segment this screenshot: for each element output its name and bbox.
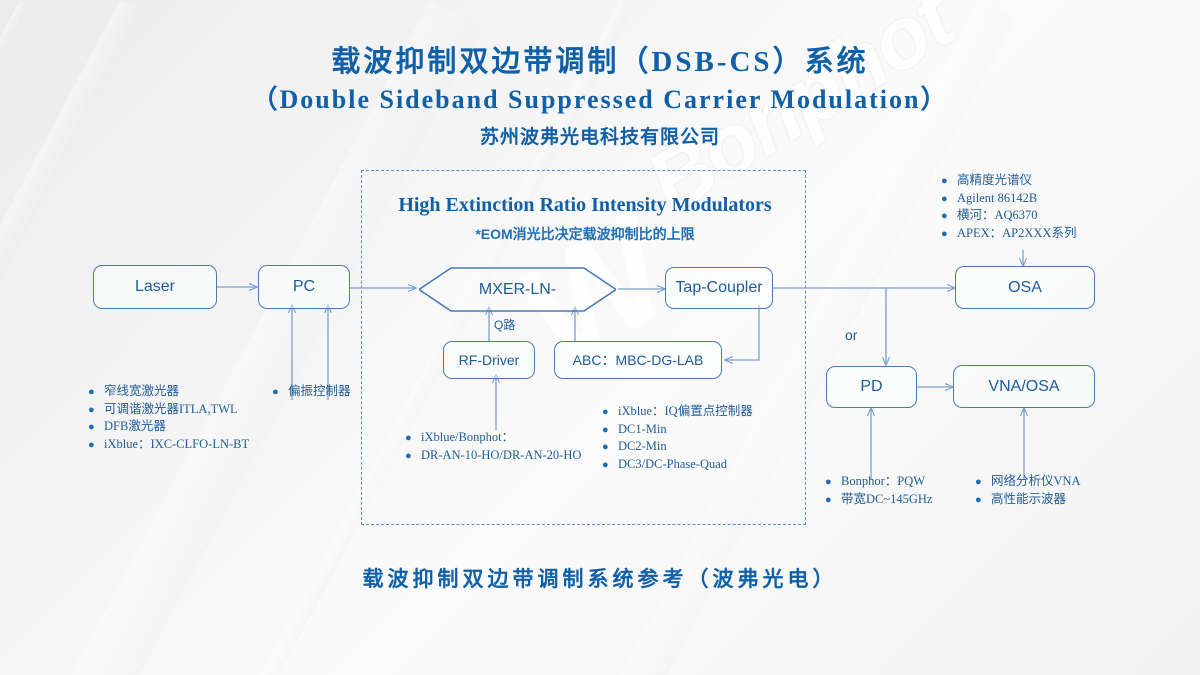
node-pd[interactable]: PD <box>826 366 917 408</box>
list-item: ●iXblue/Bonphot： <box>405 429 581 447</box>
bullet-dot-icon: ● <box>272 384 288 401</box>
title-block: 载波抑制双边带调制（DSB-CS）系统 （Double Sideband Sup… <box>0 44 1200 149</box>
list-item: ●可调谐激光器ITLA,TWL <box>88 401 249 419</box>
bullet-dot-icon: ● <box>405 430 421 447</box>
bullet-dot-icon: ● <box>975 474 991 491</box>
node-tap-coupler-label: Tap-Coupler <box>675 279 762 297</box>
bullet-dot-icon: ● <box>88 419 104 436</box>
list-item: ●Bonphor：PQW <box>825 473 932 491</box>
list-item: ●iXblue：IQ偏置点控制器 <box>602 403 753 421</box>
node-mxer-label: MXER-LN- <box>419 267 616 312</box>
slide-canvas: W Bonphot 载波抑制双边带调制（DSB-CS）系统 （Double Si… <box>0 0 1200 675</box>
bullet-dot-icon: ● <box>88 402 104 419</box>
bullet-dot-icon: ● <box>405 448 421 465</box>
annotation-osa: ●高精度光谱仪 ●Agilent 86142B ●横河：AQ6370 ●APEX… <box>941 172 1076 242</box>
group-subheading: *EOM消光比决定载波抑制比的上限 <box>370 224 800 244</box>
node-pc[interactable]: PC <box>258 265 350 309</box>
node-rf-driver-label: RF-Driver <box>459 352 520 368</box>
annotation-laser: ●窄线宽激光器 ●可调谐激光器ITLA,TWL ●DFB激光器 ●iXblue：… <box>88 383 249 453</box>
node-laser-label: Laser <box>135 278 175 296</box>
node-pc-label: PC <box>293 278 315 296</box>
list-item: ●APEX：AP2XXX系列 <box>941 225 1076 243</box>
node-pd-label: PD <box>860 378 882 396</box>
bullet-dot-icon: ● <box>88 437 104 454</box>
list-item: ●偏振控制器 <box>272 383 351 401</box>
bullet-dot-icon: ● <box>602 422 618 439</box>
label-or: or <box>845 327 857 343</box>
node-tap-coupler[interactable]: Tap-Coupler <box>665 267 773 309</box>
list-item: ●带宽DC~145GHz <box>825 491 932 509</box>
list-item: ●窄线宽激光器 <box>88 383 249 401</box>
list-item: ●DR-AN-10-HO/DR-AN-20-HO <box>405 447 581 465</box>
node-mxer-modulator[interactable]: MXER-LN- <box>419 267 616 312</box>
annotation-rf-driver: ●iXblue/Bonphot： ●DR-AN-10-HO/DR-AN-20-H… <box>405 429 581 464</box>
company-name: 苏州波弗光电科技有限公司 <box>0 122 1200 149</box>
list-item: ●高精度光谱仪 <box>941 172 1076 190</box>
bullet-dot-icon: ● <box>975 492 991 509</box>
page-title-en: （Double Sideband Suppressed Carrier Modu… <box>0 82 1200 117</box>
bullet-dot-icon: ● <box>825 474 841 491</box>
list-item: ●DC2-Min <box>602 438 753 456</box>
node-vna-osa-label: VNA/OSA <box>988 378 1059 396</box>
list-item: ●iXblue：IXC-CLFO-LN-BT <box>88 436 249 454</box>
page-title-cn: 载波抑制双边带调制（DSB-CS）系统 <box>0 44 1200 82</box>
bullet-dot-icon: ● <box>602 404 618 421</box>
page-caption: 载波抑制双边带调制系统参考（波弗光电） <box>0 563 1200 593</box>
node-abc[interactable]: ABC：MBC-DG-LAB <box>554 341 722 379</box>
bullet-dot-icon: ● <box>602 439 618 456</box>
node-vna-osa[interactable]: VNA/OSA <box>953 365 1095 408</box>
node-rf-driver[interactable]: RF-Driver <box>443 341 535 379</box>
node-laser[interactable]: Laser <box>93 265 217 309</box>
list-item: ●DC1-Min <box>602 421 753 439</box>
label-q-path: Q路 <box>494 316 515 333</box>
bullet-dot-icon: ● <box>941 173 957 190</box>
annotation-vna-osa: ●网络分析仪VNA ●高性能示波器 <box>975 473 1081 508</box>
node-osa[interactable]: OSA <box>955 266 1095 309</box>
bullet-dot-icon: ● <box>941 226 957 243</box>
list-item: ●DFB激光器 <box>88 418 249 436</box>
list-item: ●Agilent 86142B <box>941 190 1076 208</box>
list-item: ●网络分析仪VNA <box>975 473 1081 491</box>
bullet-dot-icon: ● <box>88 384 104 401</box>
annotation-abc: ●iXblue：IQ偏置点控制器 ●DC1-Min ●DC2-Min ●DC3/… <box>602 403 753 473</box>
group-heading: High Extinction Ratio Intensity Modulato… <box>370 194 800 217</box>
node-osa-label: OSA <box>1008 279 1042 297</box>
annotation-pd: ●Bonphor：PQW ●带宽DC~145GHz <box>825 473 932 508</box>
annotation-pc: ●偏振控制器 <box>272 383 351 401</box>
list-item: ●横河：AQ6370 <box>941 207 1076 225</box>
bullet-dot-icon: ● <box>825 492 841 509</box>
bullet-dot-icon: ● <box>941 191 957 208</box>
list-item: ●DC3/DC-Phase-Quad <box>602 456 753 474</box>
list-item: ●高性能示波器 <box>975 491 1081 509</box>
node-abc-label: ABC：MBC-DG-LAB <box>573 350 704 370</box>
bullet-dot-icon: ● <box>602 457 618 474</box>
bullet-dot-icon: ● <box>941 208 957 225</box>
